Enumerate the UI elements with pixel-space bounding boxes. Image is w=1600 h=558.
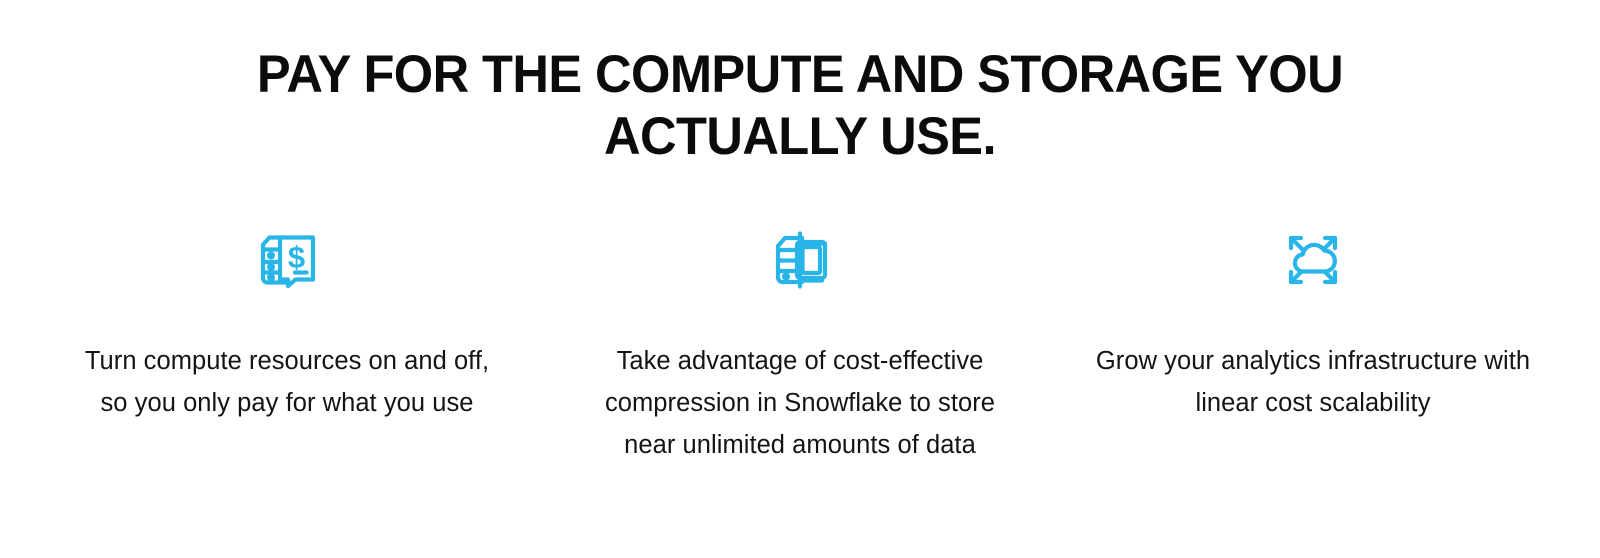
feature-column-compute: $ Turn compute resources on and off, so … — [31, 222, 544, 424]
server-storage-compression-icon — [762, 222, 838, 298]
server-invoice-dollar-icon: $ — [249, 222, 325, 298]
feature-column-text: Take advantage of cost-effective compres… — [590, 340, 1010, 466]
cloud-scale-arrows-icon — [1275, 222, 1351, 298]
feature-columns: $ Turn compute resources on and off, so … — [0, 222, 1600, 466]
page-title-container: Pay for the compute and storage you actu… — [0, 44, 1600, 168]
feature-column-text: Turn compute resources on and off, so yo… — [77, 340, 497, 424]
feature-column-scalability: Grow your analytics infrastructure with … — [1057, 222, 1570, 424]
svg-text:$: $ — [288, 240, 305, 275]
page-title: Pay for the compute and storage you actu… — [194, 44, 1407, 168]
feature-column-text: Grow your analytics infrastructure with … — [1089, 340, 1537, 424]
feature-column-storage: Take advantage of cost-effective compres… — [544, 222, 1057, 466]
feature-section: Pay for the compute and storage you actu… — [0, 0, 1600, 558]
